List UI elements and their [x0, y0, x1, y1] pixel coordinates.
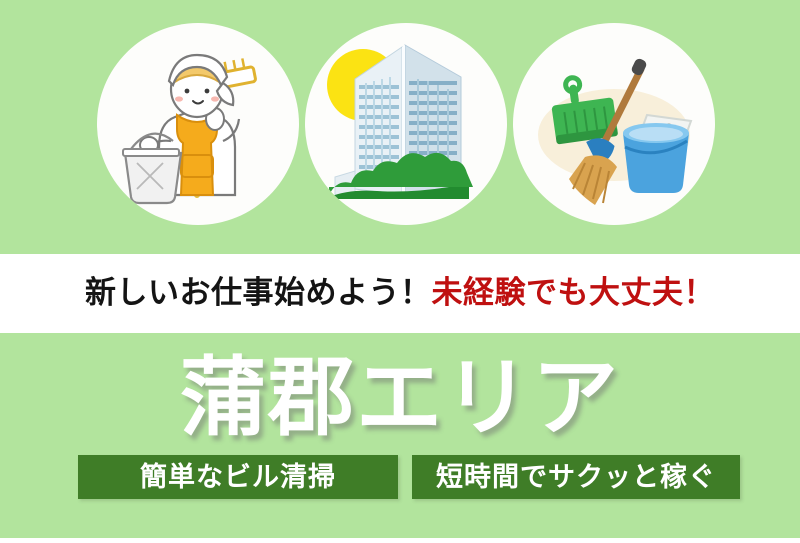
illustration-circle-office-building	[305, 23, 507, 225]
feature-tag-short-hours-earning: 短時間でサクッと稼ぐ	[412, 455, 740, 499]
illustration-circle-cleaning-tools	[513, 23, 715, 225]
message-band: 新しいお仕事始めよう！未経験でも大丈夫！	[0, 254, 800, 333]
feature-tag-easy-building-cleaning: 簡単なビル清掃	[78, 455, 398, 499]
bottom-white-strip	[0, 538, 800, 543]
feature-tag-row: 簡単なビル清掃 短時間でサクッと稼ぐ	[78, 455, 740, 499]
office-building-illustration	[305, 23, 507, 225]
cleaning-tools-illustration	[513, 23, 715, 225]
illustration-band	[0, 0, 800, 254]
catchphrase-primary: 新しいお仕事始めよう！	[85, 275, 432, 311]
area-title: 蒲郡エリア	[0, 355, 800, 441]
catchphrase: 新しいお仕事始めよう！未経験でも大丈夫！	[85, 278, 715, 309]
cleaning-woman-illustration	[97, 23, 299, 225]
catchphrase-highlight: 未経験でも大丈夫！	[432, 275, 716, 311]
area-band: 蒲郡エリア 簡単なビル清掃 短時間でサクッと稼ぐ	[0, 333, 800, 538]
illustration-circle-cleaning-woman	[97, 23, 299, 225]
job-recruitment-banner: 新しいお仕事始めよう！未経験でも大丈夫！ 蒲郡エリア 簡単なビル清掃 短時間でサ…	[0, 0, 800, 543]
